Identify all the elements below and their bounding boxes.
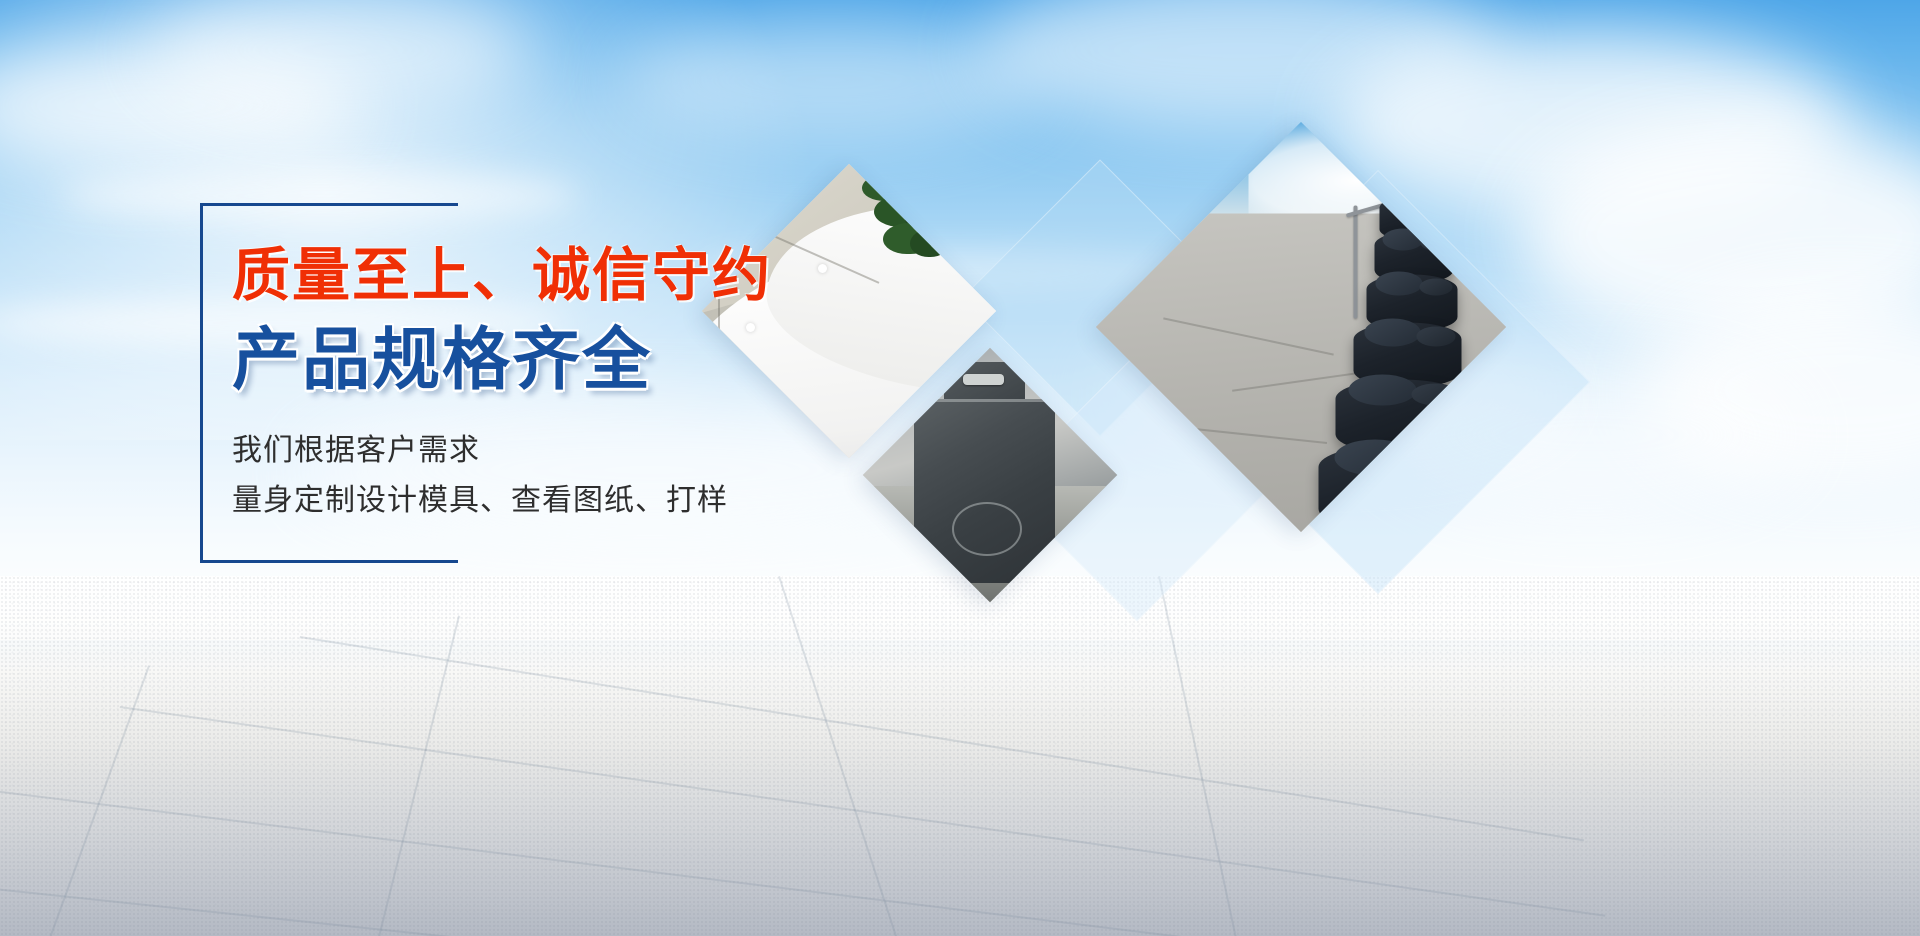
headline-secondary-blue: 产品规格齐全 — [232, 325, 932, 396]
headline-primary-red: 质量至上、诚信守约 — [232, 246, 932, 307]
ground-haze — [0, 576, 1920, 726]
mould-handle — [963, 374, 1004, 385]
ground-shadow — [0, 736, 1920, 936]
tile-line — [0, 786, 1647, 936]
ground-plaza — [0, 576, 1920, 936]
banner-text-block: 质量至上、诚信守约 产品规格齐全 我们根据客户需求 量身定制设计模具、查看图纸、… — [232, 246, 932, 525]
tile-line — [1158, 576, 1256, 936]
tile-line — [778, 576, 941, 936]
tile-line — [300, 636, 1584, 841]
cloud-shape — [620, 20, 1040, 140]
tile-line — [356, 616, 460, 936]
description-line-2: 量身定制设计模具、查看图纸、打样 — [232, 476, 932, 526]
promo-banner: 质量至上、诚信守约 产品规格齐全 我们根据客户需求 量身定制设计模具、查看图纸、… — [0, 0, 1920, 936]
mould-circular-mark — [952, 502, 1022, 556]
tile-line — [18, 665, 150, 936]
description-line-1: 我们根据客户需求 — [232, 426, 932, 476]
tile-line — [120, 706, 1606, 917]
tile-line — [0, 876, 1770, 936]
handrail-post — [1353, 205, 1357, 318]
